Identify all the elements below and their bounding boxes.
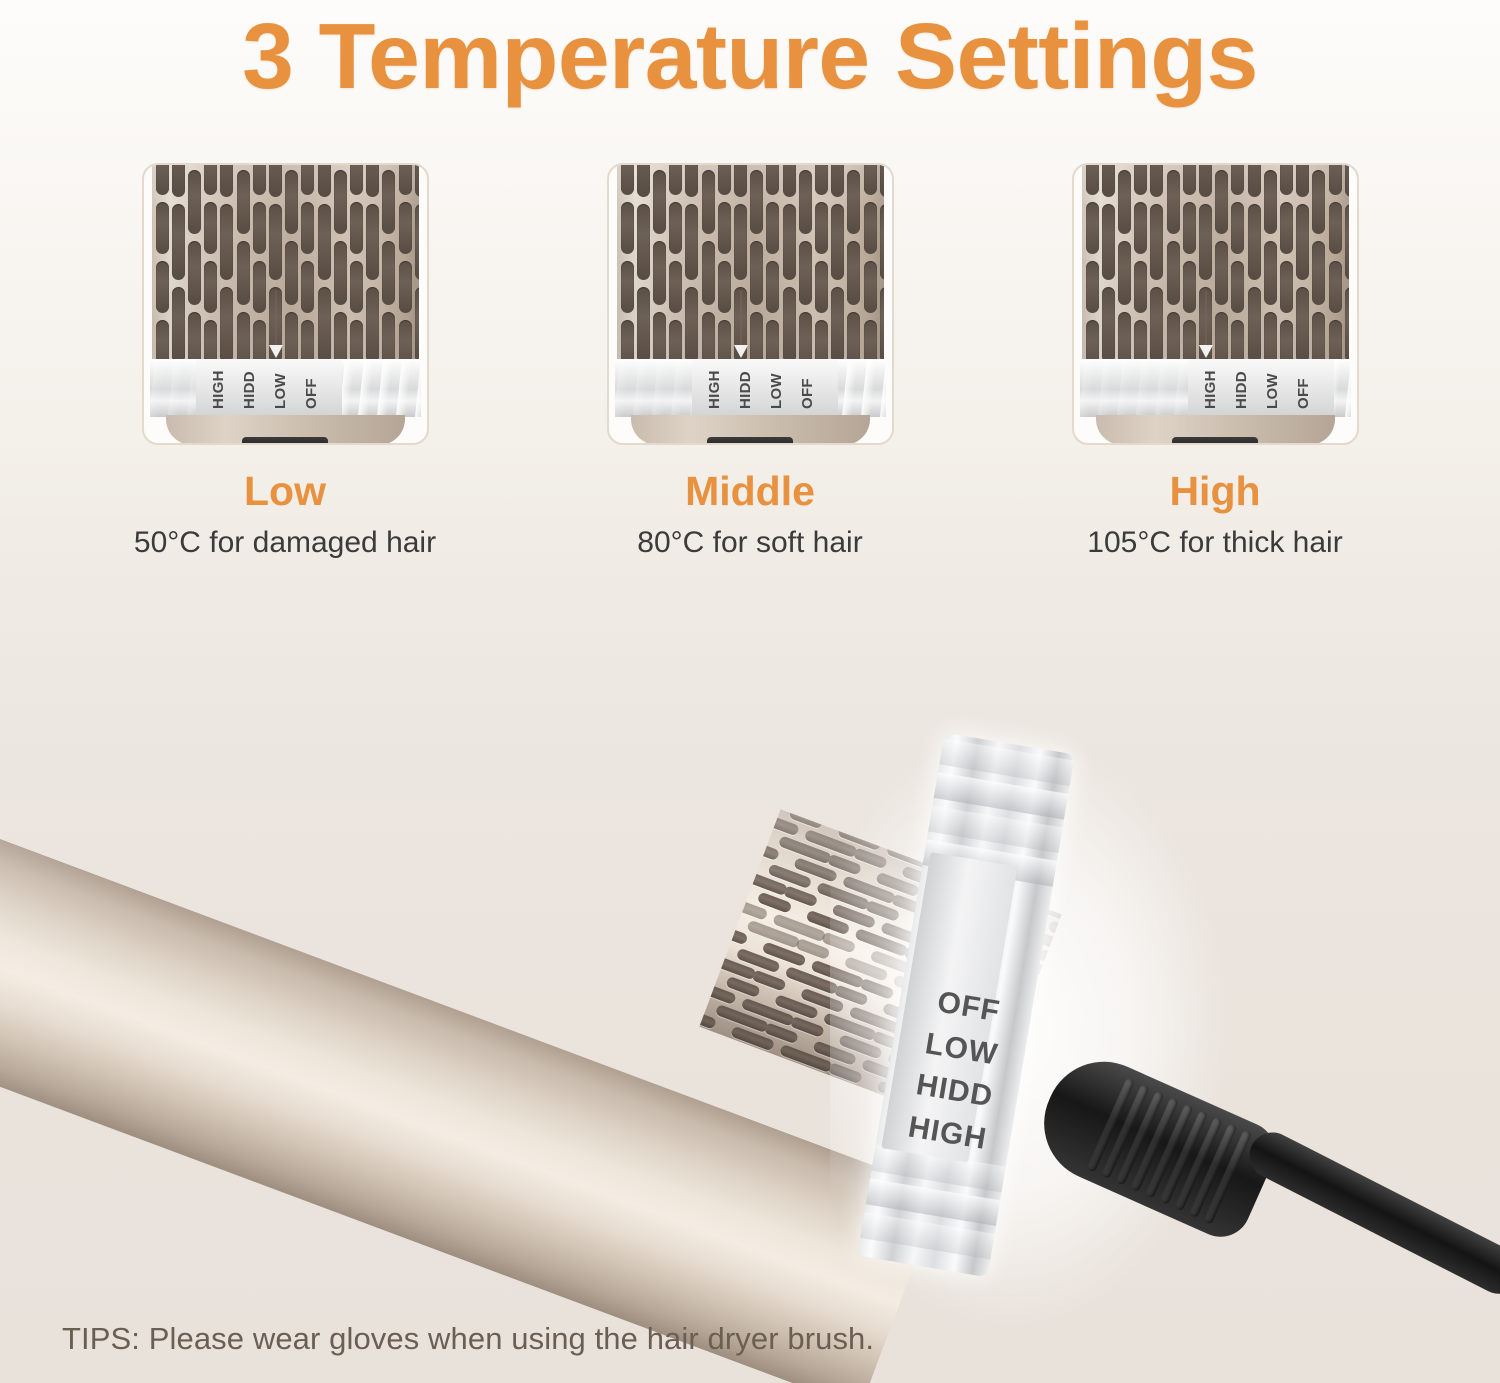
setting-card-low: OFFLOWHIDDHIGHLow50°C for damaged hair [140,163,430,560]
infographic-page: 3 Temperature Settings OFFLOWHIDDHIGHLow… [0,0,1500,1383]
hero-vent-slot [713,923,749,945]
hero-vent-slot [744,839,780,861]
page-title: 3 Temperature Settings [0,6,1500,106]
nozzle-illustration: OFFLOWHIDDHIGH [1082,163,1349,429]
arrow-stem [1205,291,1207,349]
dial-label-low: LOW [272,373,289,409]
arrow-stem [275,291,277,349]
dial-label-off: OFF [799,378,816,409]
setting-label-low: Low [244,471,326,512]
setting-card-middle: OFFLOWHIDDHIGHMiddle80°C for soft hair [605,163,895,560]
cord-stub [242,437,328,445]
nozzle-illustration: OFFLOWHIDDHIGH [152,163,419,429]
hero-vent-slot [699,1007,717,1029]
dial-label-high: HIGH [210,370,227,409]
setting-label-middle: Middle [685,471,815,512]
dial-label-hidd: HIDD [241,371,258,409]
dial-label-low: LOW [768,373,785,409]
temperature-dial-low[interactable]: OFFLOWHIDDHIGH [150,359,421,417]
hero-vent-slot [1059,973,1061,999]
hero-dial-labels: OFFLOWHIDDHIGH [876,975,1034,1165]
temperature-dial-middle[interactable]: OFFLOWHIDDHIGH [615,359,886,417]
dial-label-high: HIGH [706,370,723,409]
dial-label-hidd: HIDD [737,371,754,409]
setting-image-low: OFFLOWHIDDHIGH [142,163,429,445]
cord-stub [707,437,793,445]
arrow-head [1199,345,1213,358]
nozzle-illustration: OFFLOWHIDDHIGH [617,163,884,429]
arrow-head [734,345,748,358]
hero-vent-slot [827,1062,863,1084]
setting-label-high: High [1169,471,1260,512]
arrow-stem [740,291,742,349]
dial-label-off: OFF [1295,378,1312,409]
cord-stub [1172,437,1258,445]
dial-label-low: LOW [1264,373,1281,409]
setting-image-high: OFFLOWHIDDHIGH [1072,163,1359,445]
settings-row: OFFLOWHIDDHIGHLow50°C for damaged hairOF… [0,163,1500,560]
hero-vent-slot [1038,1029,1061,1058]
nozzle-vent-grille [1082,163,1349,361]
dial-label-hidd: HIDD [1233,371,1250,409]
nozzle-vent-grille [152,163,419,361]
tips-text: TIPS: Please wear gloves when using the … [62,1321,874,1357]
hero-vent-slot [1049,1001,1062,1023]
temperature-dial-high[interactable]: OFFLOWHIDDHIGH [1080,359,1351,417]
hero-product-image: OFFLOWHIDDHIGH [0,540,1500,1330]
dial-label-off: OFF [303,378,320,409]
dial-label-high: HIGH [1202,370,1219,409]
setting-card-high: OFFLOWHIDDHIGHHigh105°C for thick hair [1070,163,1360,560]
hero-vent-slot [1028,1057,1062,1083]
nozzle-vent-grille [617,163,884,361]
arrow-head [269,345,283,358]
setting-image-middle: OFFLOWHIDDHIGH [607,163,894,445]
